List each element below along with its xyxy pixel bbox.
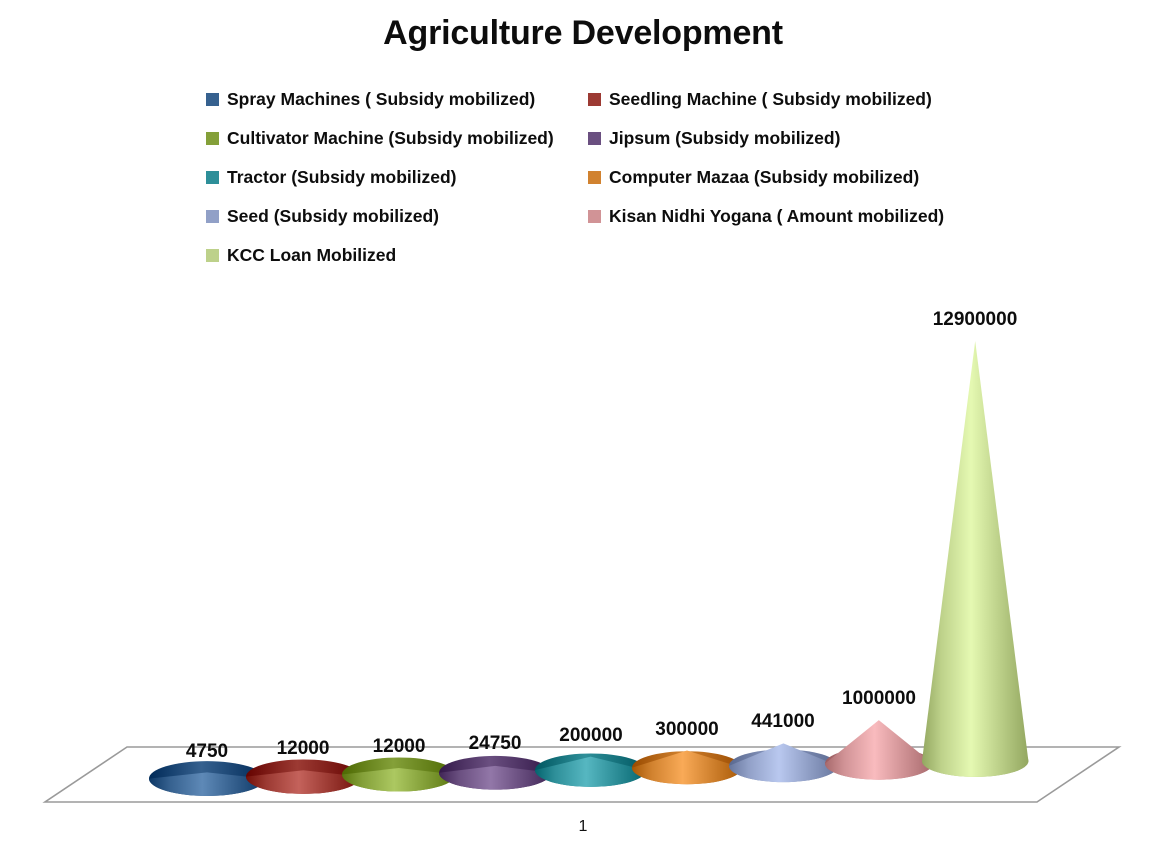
legend-item[interactable]: Tractor (Subsidy mobilized) <box>206 167 588 188</box>
chart-title: Agriculture Development <box>0 14 1166 53</box>
cone-9[interactable] <box>918 319 1032 801</box>
legend-color-swatch-icon <box>588 210 601 223</box>
legend-color-swatch-icon <box>206 171 219 184</box>
legend-color-swatch-icon <box>206 249 219 262</box>
data-label-6: 300000 <box>655 719 718 741</box>
data-label-2: 12000 <box>277 738 330 760</box>
legend-item-label: KCC Loan Mobilized <box>227 245 396 266</box>
data-label-7: 441000 <box>751 711 814 733</box>
chart-plot-area: 4750120001200024750200000300000441000100… <box>0 300 1166 820</box>
legend-row: Cultivator Machine (Subsidy mobilized)Ji… <box>206 119 1006 158</box>
legend-item[interactable]: KCC Loan Mobilized <box>206 245 588 266</box>
legend-item[interactable]: Jipsum (Subsidy mobilized) <box>588 128 988 149</box>
data-label-5: 200000 <box>559 725 622 747</box>
legend-row: Spray Machines ( Subsidy mobilized)Seedl… <box>206 80 1006 119</box>
legend-item[interactable]: Seedling Machine ( Subsidy mobilized) <box>588 89 988 110</box>
legend-color-swatch-icon <box>206 210 219 223</box>
legend-item-label: Jipsum (Subsidy mobilized) <box>609 128 840 149</box>
category-axis-label: 1 <box>0 818 1166 836</box>
legend-row: Seed (Subsidy mobilized)Kisan Nidhi Yoga… <box>206 197 1006 236</box>
legend-item-label: Cultivator Machine (Subsidy mobilized) <box>227 128 554 149</box>
legend-item[interactable]: Seed (Subsidy mobilized) <box>206 206 588 227</box>
data-label-1: 4750 <box>186 741 228 763</box>
data-label-3: 12000 <box>373 736 426 758</box>
legend-color-swatch-icon <box>206 93 219 106</box>
legend-item-label: Seedling Machine ( Subsidy mobilized) <box>609 89 932 110</box>
legend-item-label: Seed (Subsidy mobilized) <box>227 206 439 227</box>
legend-color-swatch-icon <box>588 93 601 106</box>
legend-item[interactable]: Computer Mazaa (Subsidy mobilized) <box>588 167 988 188</box>
legend-color-swatch-icon <box>588 171 601 184</box>
data-label-8: 1000000 <box>842 688 916 710</box>
legend-row: KCC Loan Mobilized <box>206 236 1006 275</box>
legend-item-label: Kisan Nidhi Yogana ( Amount mobilized) <box>609 206 944 227</box>
legend-color-swatch-icon <box>588 132 601 145</box>
legend-item[interactable]: Cultivator Machine (Subsidy mobilized) <box>206 128 588 149</box>
legend-item[interactable]: Kisan Nidhi Yogana ( Amount mobilized) <box>588 206 988 227</box>
data-label-9: 12900000 <box>933 309 1018 331</box>
legend-item-label: Tractor (Subsidy mobilized) <box>227 167 456 188</box>
legend-item-label: Computer Mazaa (Subsidy mobilized) <box>609 167 919 188</box>
legend-item-label: Spray Machines ( Subsidy mobilized) <box>227 89 535 110</box>
chart-legend: Spray Machines ( Subsidy mobilized)Seedl… <box>206 80 1006 275</box>
legend-color-swatch-icon <box>206 132 219 145</box>
legend-row: Tractor (Subsidy mobilized)Computer Maza… <box>206 158 1006 197</box>
legend-item[interactable]: Spray Machines ( Subsidy mobilized) <box>206 89 588 110</box>
data-label-4: 24750 <box>469 733 522 755</box>
